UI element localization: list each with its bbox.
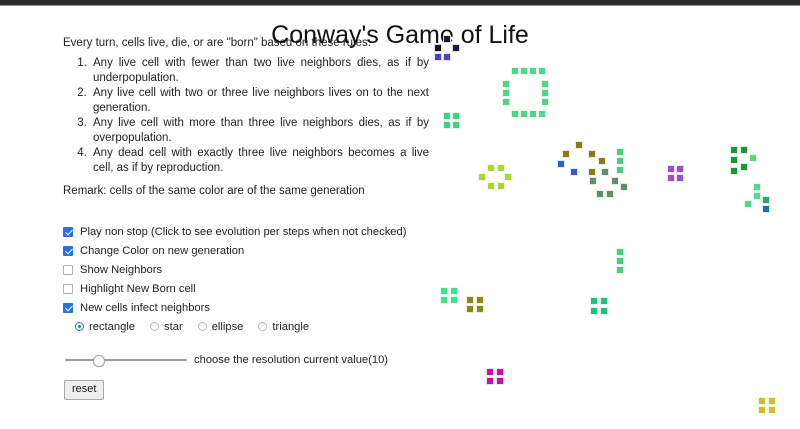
life-cell — [616, 248, 624, 256]
rule-item: Any dead cell with exactly three live ne… — [90, 146, 429, 175]
life-cell — [502, 89, 510, 97]
life-cell — [434, 53, 442, 61]
life-cell — [538, 110, 546, 118]
radio-option-triangle[interactable]: triangle — [258, 321, 309, 333]
option-label: Show Neighbors — [80, 264, 162, 276]
slider-label: choose the resolution current value(10) — [194, 354, 388, 366]
checkbox-change-color[interactable] — [63, 246, 73, 256]
life-cell — [753, 192, 761, 200]
life-cell — [596, 190, 604, 198]
life-cell — [598, 157, 606, 165]
life-cell — [541, 80, 549, 88]
life-cell — [590, 297, 598, 305]
life-cell — [452, 112, 460, 120]
life-cell — [511, 110, 519, 118]
life-cell — [541, 98, 549, 106]
life-cell — [504, 173, 512, 181]
radio-label: triangle — [272, 321, 309, 333]
life-cell — [616, 166, 624, 174]
life-cell — [575, 141, 583, 149]
page-root: Conway's Game of Life Every turn, cells … — [0, 0, 800, 429]
life-cell — [611, 177, 619, 185]
life-cell — [758, 397, 766, 405]
intro-text: Every turn, cells live, die, or are "bor… — [63, 36, 429, 50]
life-cell — [497, 182, 505, 190]
life-cell — [676, 165, 684, 173]
life-cell — [730, 146, 738, 154]
resolution-slider-row: choose the resolution current value(10) — [63, 353, 388, 367]
checkbox-show-neighbors[interactable] — [63, 265, 73, 275]
life-cell — [588, 168, 596, 176]
radio-rectangle[interactable] — [75, 322, 84, 331]
rule-item: Any live cell with fewer than two live n… — [90, 56, 429, 85]
life-cell — [753, 183, 761, 191]
life-cell — [768, 397, 776, 405]
life-cell — [487, 164, 495, 172]
rule-item: Any live cell with more than three live … — [90, 116, 429, 145]
option-change-color[interactable]: Change Color on new generation — [63, 241, 443, 260]
life-cell — [443, 121, 451, 129]
life-cell — [620, 183, 628, 191]
option-infect-neighbors[interactable]: New cells infect neighbors — [63, 298, 443, 317]
life-cell — [562, 150, 570, 158]
life-cell — [676, 174, 684, 182]
life-cell — [476, 305, 484, 313]
life-cell — [443, 112, 451, 120]
reset-button[interactable]: reset — [64, 380, 104, 400]
radio-label: rectangle — [89, 321, 135, 333]
life-cell — [466, 296, 474, 304]
life-cell — [450, 296, 458, 304]
slider-track[interactable] — [65, 359, 187, 361]
life-cell — [616, 266, 624, 274]
life-cell — [486, 368, 494, 376]
life-cell — [740, 146, 748, 154]
life-cell — [502, 80, 510, 88]
life-cell — [476, 296, 484, 304]
life-cell — [730, 167, 738, 175]
shape-radio-row: rectangle star ellipse triangle — [75, 317, 443, 336]
life-cell — [570, 168, 578, 176]
option-label: New cells infect neighbors — [80, 302, 210, 314]
radio-option-rectangle[interactable]: rectangle — [75, 321, 135, 333]
life-cell — [749, 154, 757, 162]
life-cell — [740, 163, 748, 171]
life-cell — [520, 67, 528, 75]
life-cell — [730, 156, 738, 164]
life-cell — [600, 307, 608, 315]
radio-ellipse[interactable] — [198, 322, 207, 331]
life-cell — [450, 287, 458, 295]
life-cell — [601, 168, 609, 176]
radio-label: star — [164, 321, 183, 333]
rules-list: Any live cell with fewer than two live n… — [63, 56, 429, 175]
life-cell — [511, 67, 519, 75]
life-cell — [600, 297, 608, 305]
checkbox-play-non-stop[interactable] — [63, 227, 73, 237]
radio-label: ellipse — [212, 321, 244, 333]
life-cell — [616, 157, 624, 165]
rule-item: Any live cell with two or three live nei… — [90, 86, 429, 115]
slider-thumb[interactable] — [93, 355, 105, 367]
life-cell — [466, 305, 474, 313]
life-cell — [590, 307, 598, 315]
life-cell — [616, 148, 624, 156]
option-label: Change Color on new generation — [80, 245, 244, 257]
radio-option-star[interactable]: star — [150, 321, 183, 333]
life-cell — [443, 53, 451, 61]
life-cell — [529, 110, 537, 118]
radio-star[interactable] — [150, 322, 159, 331]
life-cell — [520, 110, 528, 118]
life-cell — [496, 377, 504, 385]
radio-option-ellipse[interactable]: ellipse — [198, 321, 244, 333]
life-cell — [557, 160, 565, 168]
life-cell — [667, 174, 675, 182]
checkbox-infect-neighbors[interactable] — [63, 303, 73, 313]
life-cell — [768, 406, 776, 414]
life-cell — [529, 67, 537, 75]
life-cell — [497, 164, 505, 172]
life-cell — [496, 368, 504, 376]
life-cell — [762, 205, 770, 213]
option-play-non-stop[interactable]: Play non stop (Click to see evolution pe… — [63, 222, 443, 241]
resolution-slider[interactable] — [63, 353, 189, 367]
option-show-neighbors[interactable]: Show Neighbors — [63, 260, 443, 279]
life-cell — [589, 177, 597, 185]
life-cell — [758, 406, 766, 414]
life-cell — [541, 89, 549, 97]
checkbox-highlight-new-born[interactable] — [63, 284, 73, 294]
instructions-panel: Every turn, cells live, die, or are "bor… — [63, 36, 429, 198]
life-cell — [667, 165, 675, 173]
life-cell — [486, 377, 494, 385]
life-cell — [487, 182, 495, 190]
life-cell — [762, 196, 770, 204]
remark-text: Remark: cells of the same color are of t… — [63, 184, 429, 198]
life-cell — [744, 200, 752, 208]
life-cell — [478, 173, 486, 181]
life-cell — [588, 150, 596, 158]
life-cell — [452, 121, 460, 129]
life-cell — [606, 190, 614, 198]
option-label: Play non stop (Click to see evolution pe… — [80, 226, 406, 238]
radio-triangle[interactable] — [258, 322, 267, 331]
life-cell — [538, 67, 546, 75]
life-cell — [616, 257, 624, 265]
browser-chrome-strip — [0, 0, 800, 6]
life-cell — [502, 98, 510, 106]
option-highlight-new-born[interactable]: Highlight New Born cell — [63, 279, 443, 298]
options-panel: Play non stop (Click to see evolution pe… — [63, 222, 443, 336]
option-label: Highlight New Born cell — [80, 283, 196, 295]
